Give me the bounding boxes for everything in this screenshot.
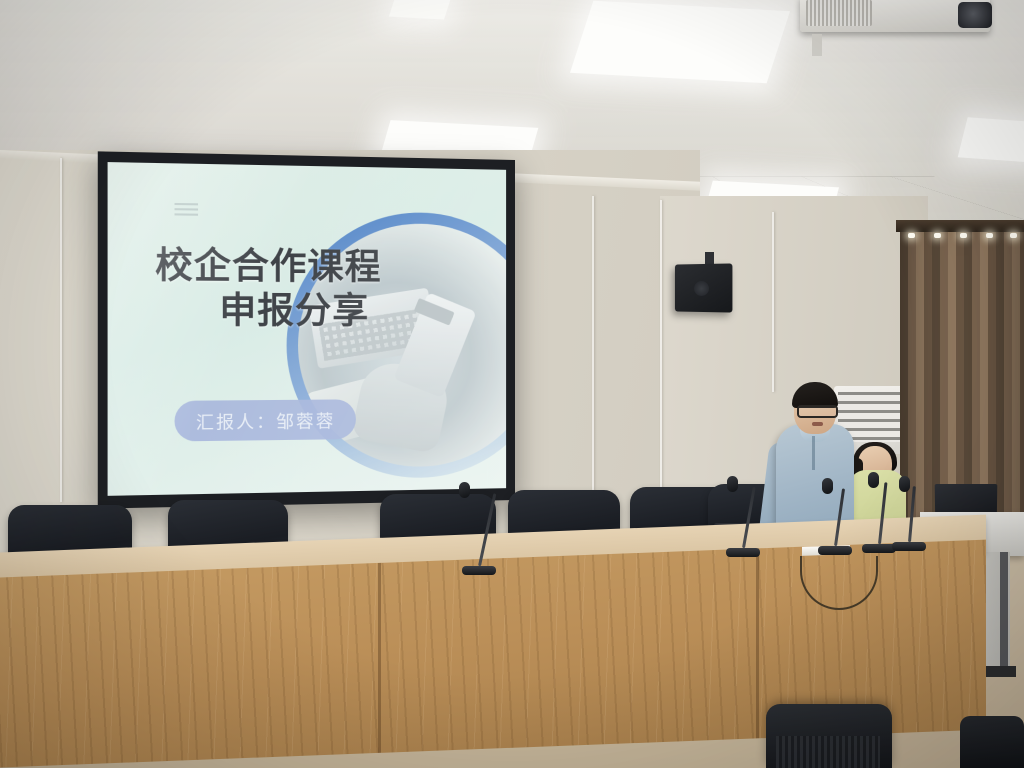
wall-seam: [772, 212, 774, 392]
microphone-base: [462, 566, 496, 575]
slide-presenter-badge: 汇报人：邹蓉蓉: [175, 399, 356, 441]
microphone-head-icon: [822, 478, 833, 494]
microphone-base: [726, 548, 760, 557]
wall-seam: [60, 158, 62, 502]
slide-title: 校企合作课程 申报分享: [155, 244, 416, 333]
projection-screen: 校企合作课程 申报分享 汇报人：邹蓉蓉: [98, 151, 515, 508]
microphone-head-icon: [868, 472, 879, 488]
foreground-chair-mesh: [776, 736, 880, 768]
curtain-downlight: [1010, 233, 1017, 238]
table-panel-seam: [756, 548, 759, 738]
ceiling-panel-light: [958, 117, 1024, 163]
podium-edge: [1000, 552, 1008, 666]
microphone-base: [892, 542, 926, 551]
microphone-base: [818, 546, 852, 555]
slide-title-line1: 校企合作课程: [155, 245, 381, 288]
microphone-base: [862, 544, 896, 553]
curtain-rod: [896, 220, 1024, 232]
curtain-downlight: [908, 233, 915, 238]
projector-mount: [812, 34, 822, 56]
wall-seam: [660, 200, 662, 496]
foreground-chair-right: [960, 716, 1024, 768]
wall-seam: [592, 196, 594, 496]
curtain-downlight: [960, 233, 967, 238]
projector-vent: [806, 0, 872, 26]
microphone-head-icon: [899, 476, 910, 492]
conference-room-photo: 校企合作课程 申报分享 汇报人：邹蓉蓉: [0, 0, 1024, 768]
ceiling-panel-light: [570, 1, 790, 83]
ceiling-panel-light: [389, 0, 451, 19]
slide-logo-icon: [175, 203, 199, 218]
presenter-mouth: [812, 422, 823, 426]
speaker-cone-icon: [694, 281, 709, 296]
slide-title-line2: 申报分享: [155, 289, 416, 334]
curtain-downlight: [934, 233, 941, 238]
curtain-downlight: [986, 233, 993, 238]
slide-surface: 校企合作课程 申报分享 汇报人：邹蓉蓉: [108, 162, 507, 496]
projector-lens-icon: [958, 2, 992, 28]
microphone-head-icon: [727, 476, 738, 492]
table-panel-seam: [378, 563, 381, 753]
presenter-placket: [812, 436, 815, 470]
microphone-head-icon: [459, 482, 470, 498]
glasses-icon: [797, 405, 838, 418]
